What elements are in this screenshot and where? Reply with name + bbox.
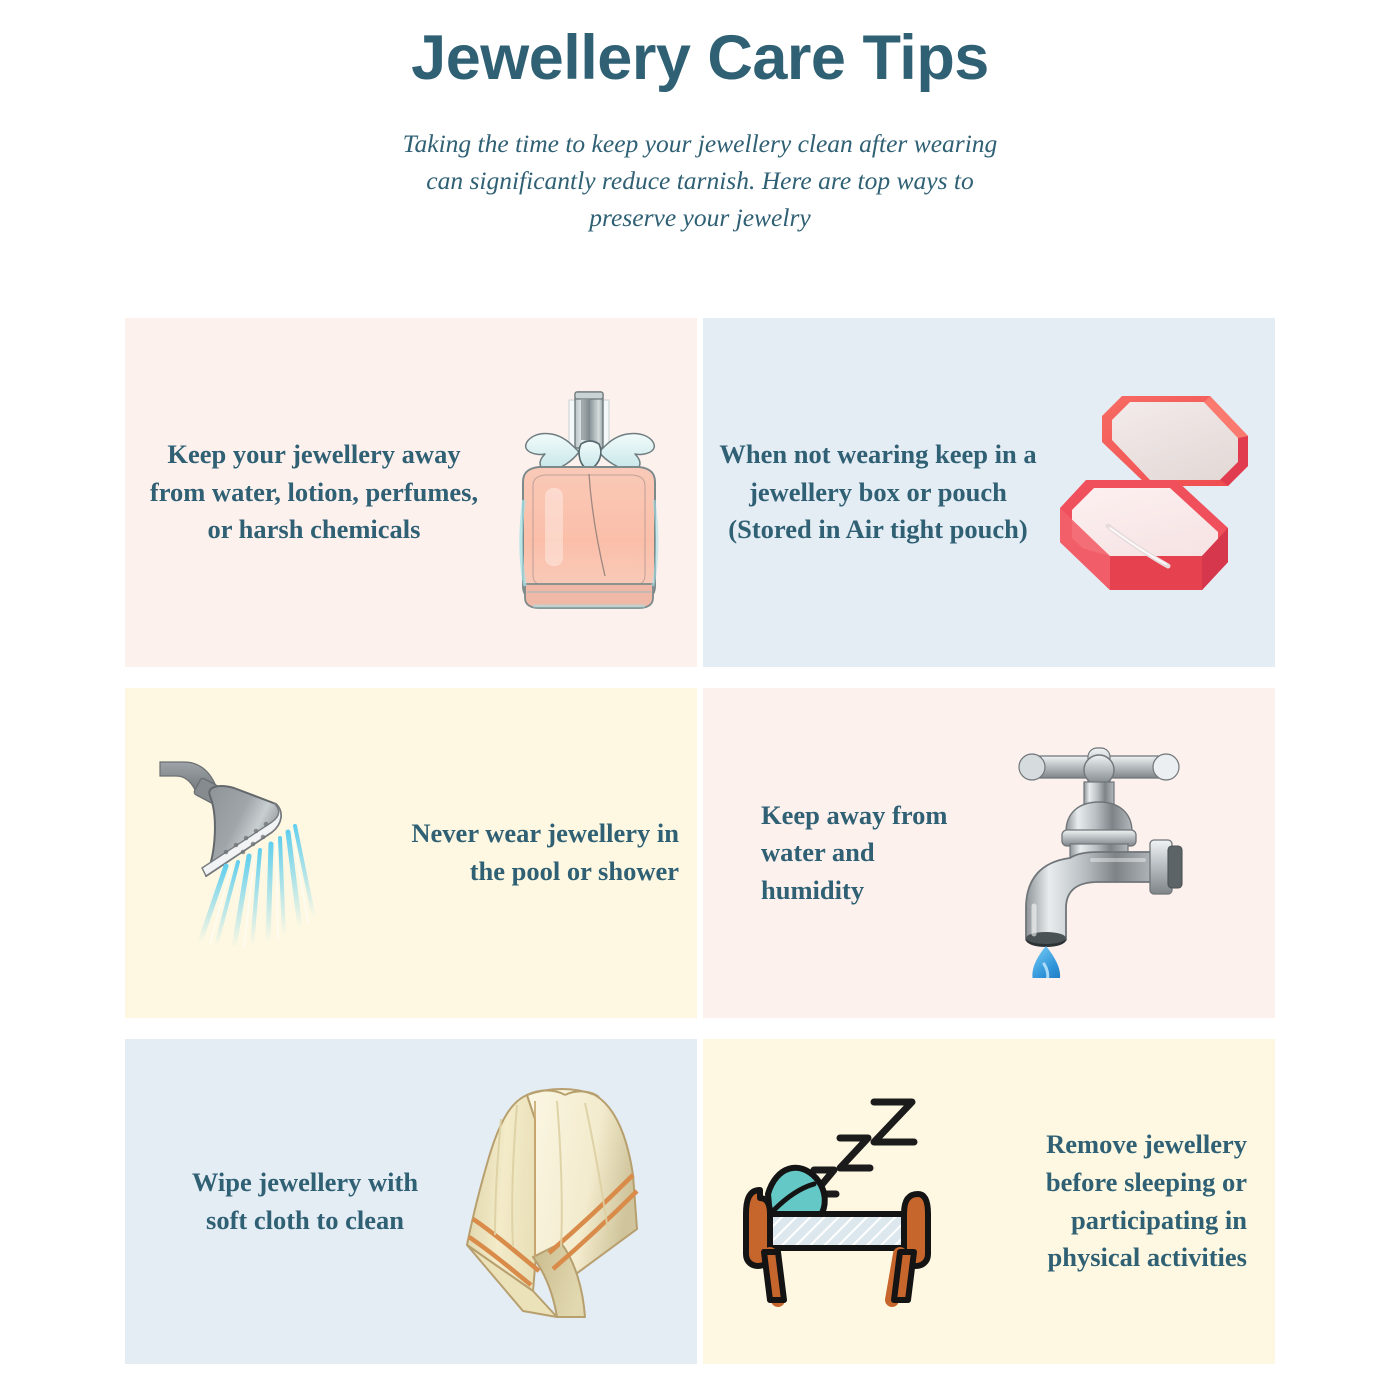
tip-card-5[interactable]: Wipe jewellery with soft cloth to clean bbox=[125, 1039, 697, 1364]
bed-sleeping-icon bbox=[734, 1094, 974, 1309]
zzz-icon bbox=[814, 1102, 914, 1194]
tip-text-3: Never wear jewellery in the pool or show… bbox=[397, 815, 697, 890]
tip-text-1: Keep your jewellery away from water, lot… bbox=[125, 436, 485, 549]
tip-card-1[interactable]: Keep your jewellery away from water, lot… bbox=[125, 318, 697, 667]
tip-text-2: When not wearing keep in a jewellery box… bbox=[703, 436, 1043, 549]
tip-card-2[interactable]: When not wearing keep in a jewellery box… bbox=[703, 318, 1275, 667]
tip-illustration-6 bbox=[703, 1094, 1005, 1309]
cloth-icon bbox=[461, 1079, 661, 1324]
tip-illustration-3 bbox=[125, 746, 397, 961]
tip-text-4: Keep away from water and humidity bbox=[703, 797, 963, 910]
infographic-header: Jewellery Care Tips Taking the time to k… bbox=[0, 0, 1400, 237]
ring-box-icon bbox=[1052, 380, 1267, 605]
faucet-icon bbox=[1004, 728, 1234, 978]
tip-card-6[interactable]: Remove jewellery before sleeping or part… bbox=[703, 1039, 1275, 1364]
tips-grid: Keep your jewellery away from water, lot… bbox=[125, 318, 1275, 1364]
tip-card-4[interactable]: Keep away from water and humidity bbox=[703, 688, 1275, 1018]
tip-text-6: Remove jewellery before sleeping or part… bbox=[1005, 1126, 1275, 1277]
page-subtitle: Taking the time to keep your jewellery c… bbox=[390, 126, 1010, 237]
tip-card-3[interactable]: Never wear jewellery in the pool or show… bbox=[125, 688, 697, 1018]
tip-illustration-5 bbox=[425, 1079, 697, 1324]
perfume-bottle-icon bbox=[493, 370, 683, 615]
tip-illustration-4 bbox=[963, 728, 1275, 978]
tip-illustration-1 bbox=[485, 370, 697, 615]
tip-text-5: Wipe jewellery with soft cloth to clean bbox=[125, 1164, 425, 1239]
page-title: Jewellery Care Tips bbox=[0, 22, 1400, 94]
tip-illustration-2 bbox=[1043, 380, 1275, 605]
shower-head-icon bbox=[154, 746, 369, 961]
